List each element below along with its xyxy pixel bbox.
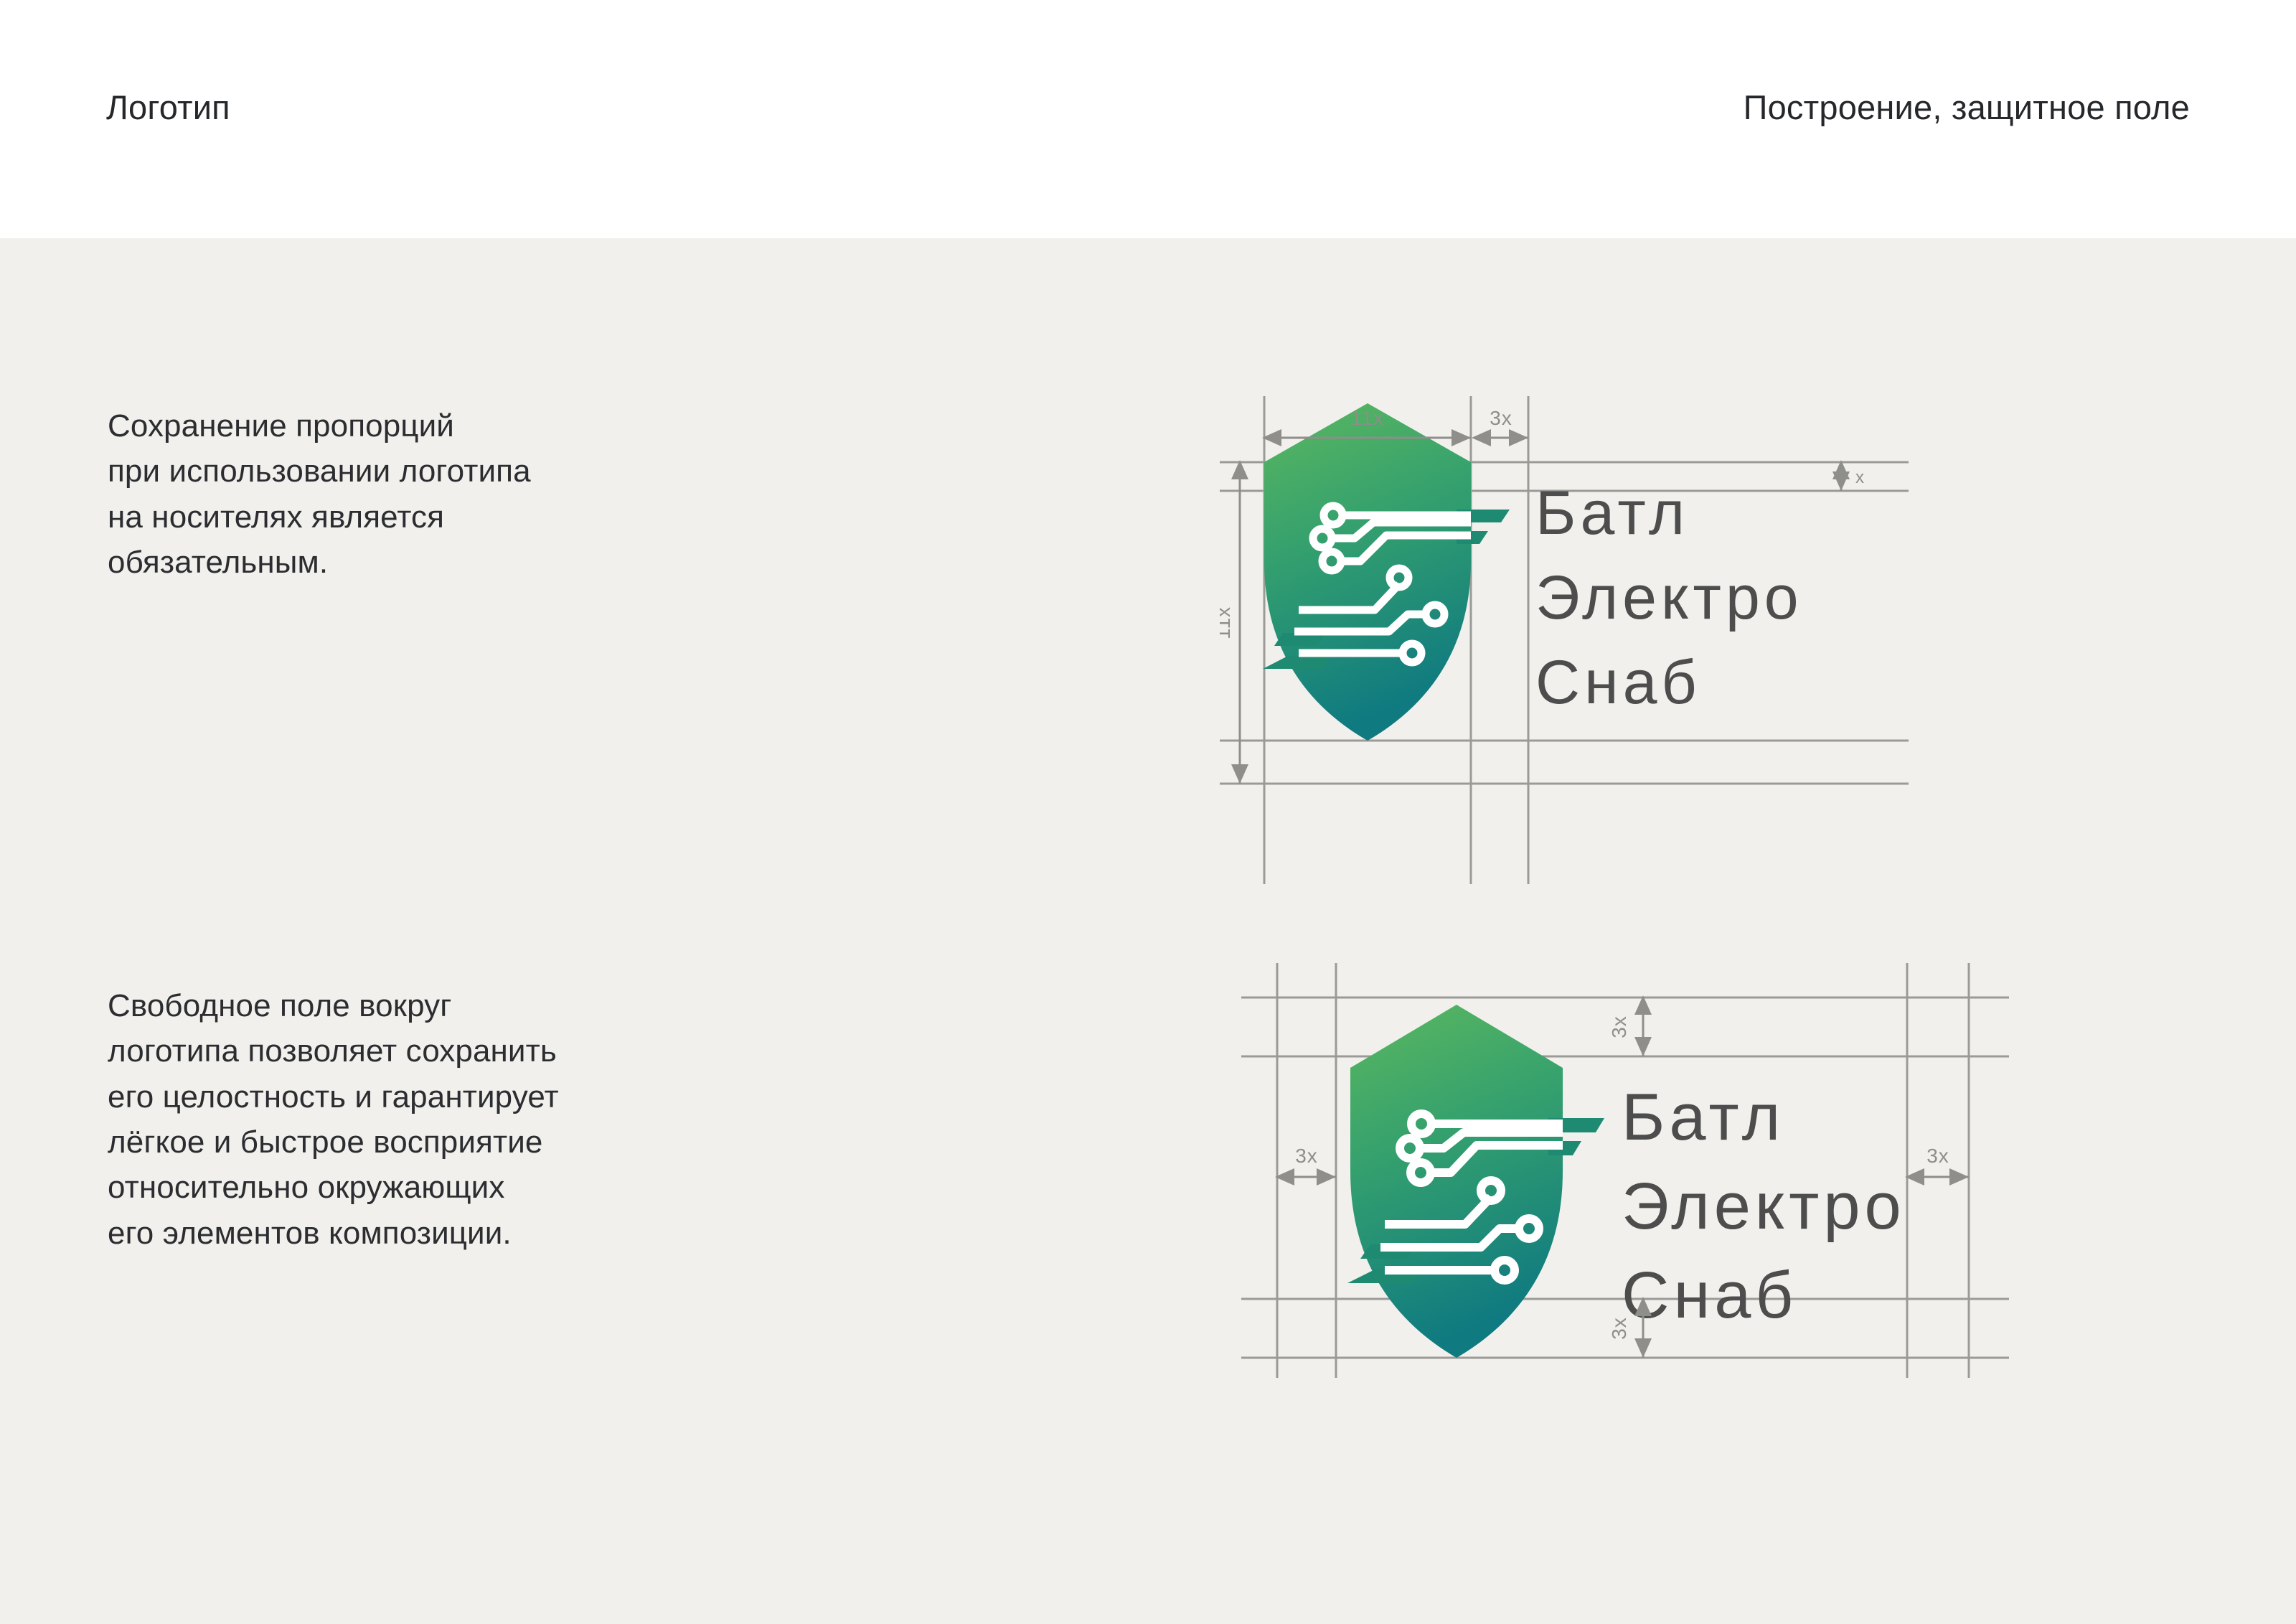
wordmark-line-3: Снаб <box>1535 648 1701 717</box>
dimension-cap-offset: x <box>1841 462 1865 491</box>
logo-clear-space-diagram: Батл Электро Снаб 3x 3x 3x 3 <box>1213 947 2016 1392</box>
section-clear-space: Свободное поле вокруг логотипа позволяет… <box>0 854 2296 1500</box>
dimension-label-clearance-left: 3x <box>1295 1145 1318 1167</box>
dimension-label-cap-offset: x <box>1855 468 1865 487</box>
wordmark-line-2: Электро <box>1622 1170 1906 1243</box>
logo-construction-diagram: Батл Электро Снаб 11x 3x 11x <box>1220 382 1909 898</box>
logo-shield-mark <box>1263 403 1510 741</box>
dimension-gap-width: 3x <box>1474 407 1528 438</box>
clear-space-description: Свободное поле вокруг логотипа позволяет… <box>108 983 753 1256</box>
dimension-label-clearance-top: 3x <box>1608 1015 1630 1038</box>
section-proportions: Сохранение пропорций при использовании л… <box>0 238 2296 755</box>
dimension-label-clearance-right: 3x <box>1926 1145 1949 1167</box>
dimension-label-clearance-bottom: 3x <box>1608 1317 1630 1340</box>
wordmark-line-3: Снаб <box>1622 1259 1797 1332</box>
header-inner: Логотип Построение, защитное поле <box>106 90 2190 124</box>
logo-shield-mark <box>1347 1005 1604 1358</box>
logo-wordmark: Батл Электро Снаб <box>1535 479 1803 717</box>
wordmark-line-1: Батл <box>1535 479 1689 548</box>
dimension-label-shield-height: 11x <box>1220 606 1234 639</box>
dimension-label-shield-width: 11x <box>1351 407 1384 429</box>
proportions-description: Сохранение пропорций при использовании л… <box>108 403 710 585</box>
page-title: Логотип <box>106 90 230 124</box>
page-header: Логотип Построение, защитное поле <box>0 0 2296 238</box>
dimension-label-gap-width: 3x <box>1490 407 1512 429</box>
page-section-title: Построение, защитное поле <box>1744 90 2190 124</box>
logo-wordmark: Батл Электро Снаб <box>1622 1081 1906 1332</box>
wordmark-line-2: Электро <box>1535 563 1803 632</box>
dimension-clearance-left: 3x <box>1277 1145 1336 1177</box>
wordmark-line-1: Батл <box>1622 1081 1784 1154</box>
dimension-clearance-right: 3x <box>1907 1145 1969 1177</box>
dimension-clearance-top: 3x <box>1608 998 1643 1056</box>
dimension-shield-height: 11x <box>1220 462 1240 784</box>
